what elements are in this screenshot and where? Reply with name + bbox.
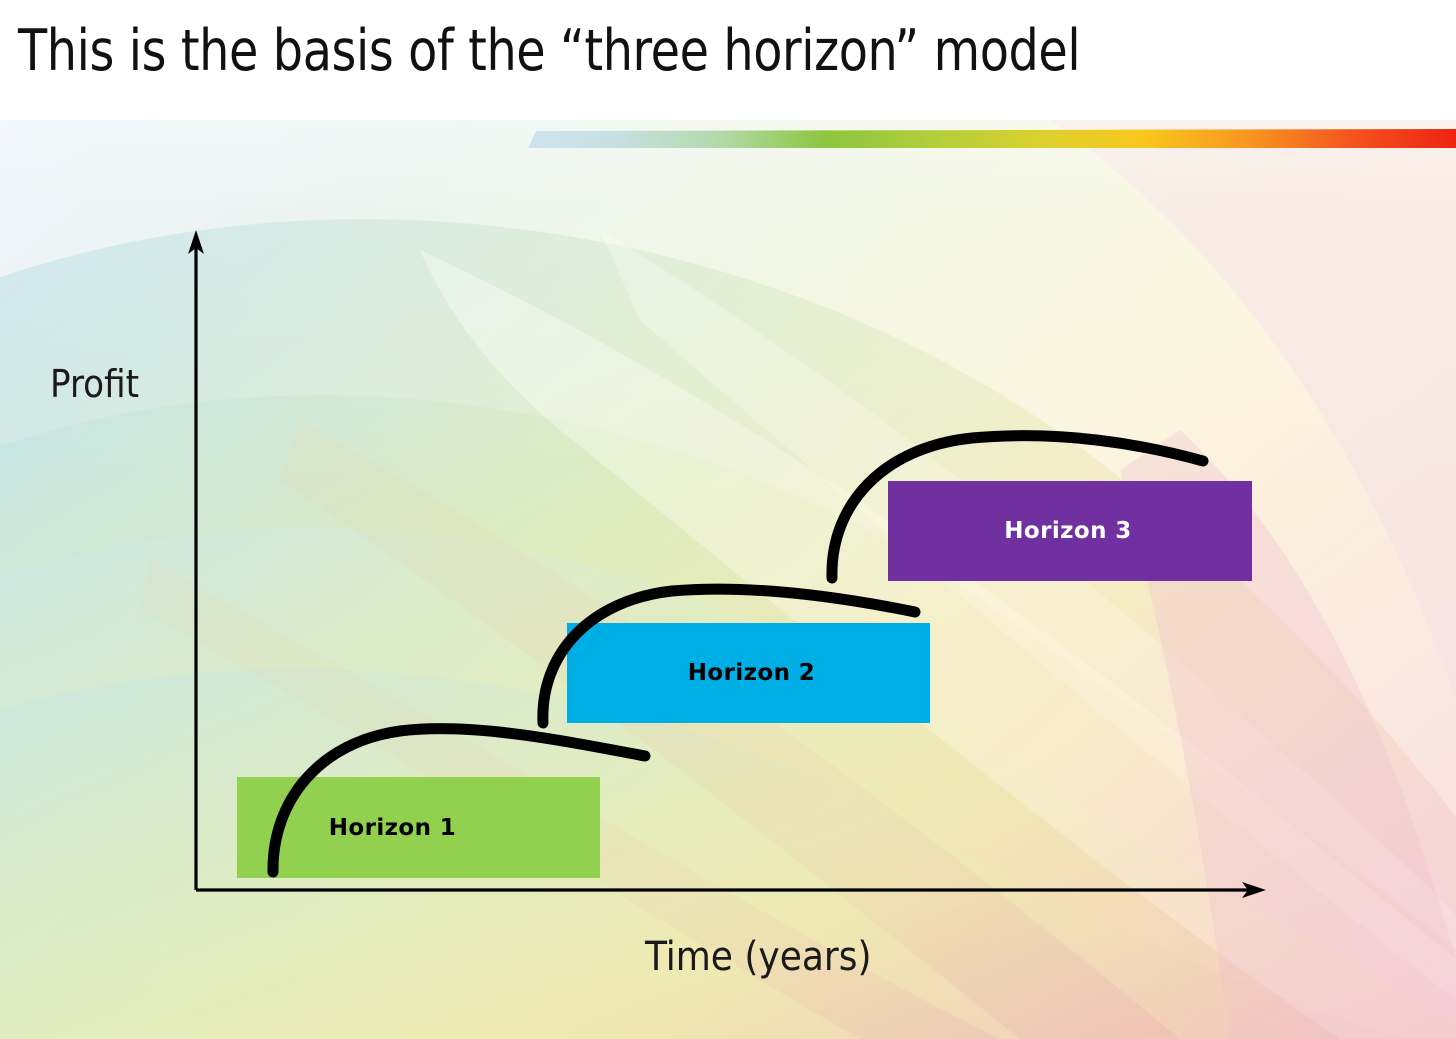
horizon-2-label: Horizon 2 bbox=[688, 660, 815, 686]
horizon-2-box[interactable]: Horizon 2 bbox=[567, 623, 930, 723]
horizon-1-label: Horizon 1 bbox=[329, 815, 456, 841]
horizon-3-label: Horizon 3 bbox=[1004, 518, 1131, 544]
rainbow-accent-bar bbox=[528, 129, 1456, 148]
x-axis-arrowhead bbox=[1242, 882, 1266, 898]
y-axis-arrowhead bbox=[188, 230, 204, 254]
title-band: This is the basis of the “three horizon”… bbox=[0, 0, 1456, 120]
y-axis-label: Profit bbox=[50, 362, 139, 406]
slide-canvas: This is the basis of the “three horizon”… bbox=[0, 0, 1456, 1039]
x-axis-label: Time (years) bbox=[645, 934, 871, 980]
horizon-3-box[interactable]: Horizon 3 bbox=[888, 481, 1252, 581]
page-title: This is the basis of the “three horizon”… bbox=[18, 16, 1320, 86]
horizon-1-box[interactable]: Horizon 1 bbox=[237, 777, 600, 878]
